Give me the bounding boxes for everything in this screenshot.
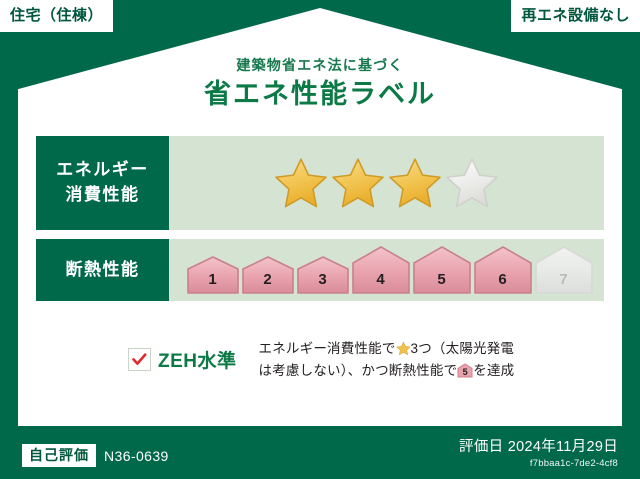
insulation-level-number: 7 <box>535 272 593 287</box>
insulation-label: 断熱性能 <box>66 258 140 283</box>
zeh-description: エネルギー消費性能で 3つ（太陽光発電 は考慮しない）、かつ断熱性能で 5を達成 <box>259 338 515 382</box>
star-icon-empty <box>445 156 499 210</box>
evaluation-code: N36-0639 <box>104 449 169 463</box>
building-type-tag: 住宅（住棟） <box>0 0 113 32</box>
insulation-level-inline-number: 5 <box>457 368 473 377</box>
insulation-level-number: 6 <box>474 272 532 287</box>
energy-performance-row: エネルギー 消費性能 <box>36 136 604 230</box>
star-icon <box>396 341 411 356</box>
evaluation-date: 評価日 2024年11月29日 <box>459 438 618 456</box>
evaluation-hash: f7bbaa1c-7de2-4cf8 <box>459 458 618 470</box>
star-icon-filled <box>388 156 442 210</box>
title-block: 建築物省エネ法に基づく 省エネ性能ラベル <box>0 57 640 112</box>
star-icon-filled <box>274 156 328 210</box>
energy-rating-value <box>169 136 604 230</box>
insulation-performance-row: 断熱性能 1234567 <box>36 239 604 301</box>
zeh-label: ZEH水準 <box>158 346 237 373</box>
energy-label-line1: エネルギー <box>56 158 149 183</box>
insulation-performance-label-box: 断熱性能 <box>36 239 169 301</box>
insulation-level-badge: 2 <box>242 256 294 294</box>
renewable-equipment-tag: 再エネ設備なし <box>511 0 640 32</box>
star-rating <box>274 156 499 210</box>
energy-performance-label-box: エネルギー 消費性能 <box>36 136 169 230</box>
check-icon <box>132 353 147 366</box>
insulation-rating-value: 1234567 <box>169 239 604 301</box>
zeh-section: ZEH水準 エネルギー消費性能で 3つ（太陽光発電 は考慮しない）、かつ断熱性能… <box>36 338 604 382</box>
page-title: 省エネ性能ラベル <box>0 78 640 112</box>
energy-label-line2: 消費性能 <box>66 183 140 208</box>
insulation-level-scale: 1234567 <box>187 246 593 294</box>
self-evaluation-tag: 自己評価 <box>22 444 96 467</box>
insulation-level-badge: 3 <box>297 256 349 294</box>
insulation-level-badge: 4 <box>352 246 410 294</box>
insulation-level-badge: 6 <box>474 246 532 294</box>
performance-rows: エネルギー 消費性能 断熱性能 1234567 <box>36 136 604 310</box>
zeh-desc-line1-pre: エネルギー消費性能で <box>259 341 396 356</box>
zeh-desc-line2-pre: は考慮しない）、かつ断熱性能で <box>259 363 458 378</box>
insulation-level-number: 3 <box>297 272 349 287</box>
insulation-level-inline-badge: 5 <box>457 363 473 378</box>
footer-right: 評価日 2024年11月29日 f7bbaa1c-7de2-4cf8 <box>459 438 618 470</box>
footer-left: 自己評価 N36-0639 <box>22 444 169 467</box>
energy-performance-label: 住宅（住棟） 再エネ設備なし 建築物省エネ法に基づく 省エネ性能ラベル エネルギ… <box>0 0 640 479</box>
insulation-level-number: 4 <box>352 272 410 287</box>
star-icon-filled <box>331 156 385 210</box>
zeh-desc-line1-post: 3つ（太陽光発電 <box>411 341 515 356</box>
zeh-standard-mark: ZEH水準 <box>128 346 237 373</box>
insulation-level-number: 1 <box>187 272 239 287</box>
insulation-level-badge: 5 <box>413 246 471 294</box>
insulation-level-number: 2 <box>242 272 294 287</box>
insulation-level-badge: 1 <box>187 256 239 294</box>
zeh-checkbox <box>128 348 151 371</box>
zeh-desc-line2-post: を達成 <box>473 363 514 378</box>
insulation-level-badge: 7 <box>535 246 593 294</box>
insulation-level-number: 5 <box>413 272 471 287</box>
title-subtitle: 建築物省エネ法に基づく <box>0 57 640 74</box>
